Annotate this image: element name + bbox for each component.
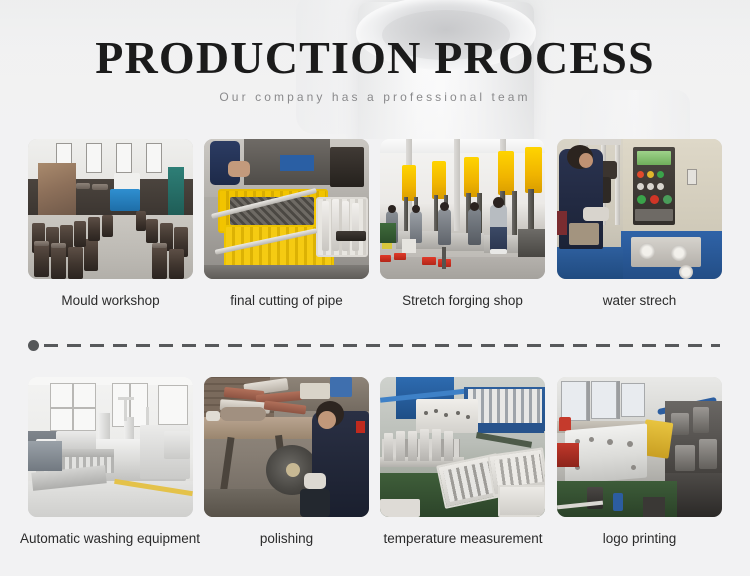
process-step-caption: logo printing (557, 530, 722, 547)
process-step-caption: temperature measurement (368, 530, 558, 547)
process-step-final-cutting-of-pipe[interactable]: final cutting of pipe (204, 139, 369, 309)
automatic-washing-equipment-photo (28, 377, 193, 517)
process-step-caption: Automatic washing equipment (10, 530, 210, 547)
process-step-image[interactable] (28, 377, 193, 517)
final-cutting-of-pipe-photo (204, 139, 369, 279)
process-step-image[interactable] (380, 377, 545, 517)
hero-header: PRODUCTION PROCESS Our company has a pro… (0, 0, 750, 139)
timeline-divider (28, 337, 722, 355)
process-step-caption: polishing (204, 530, 369, 547)
process-step-image[interactable] (380, 139, 545, 279)
process-step-automatic-washing-equipment[interactable]: Automatic washing equipment (28, 377, 193, 547)
timeline-dot-icon (28, 340, 39, 351)
process-step-caption: Stretch forging shop (380, 292, 545, 309)
process-step-image[interactable] (28, 139, 193, 279)
page-title: PRODUCTION PROCESS (0, 35, 750, 81)
process-step-mould-workshop[interactable]: Mould workshop (28, 139, 193, 309)
polishing-photo (204, 377, 369, 517)
process-step-image[interactable] (204, 377, 369, 517)
process-step-image[interactable] (557, 139, 722, 279)
process-step-image[interactable] (204, 139, 369, 279)
page-subtitle: Our company has a professional team (0, 90, 750, 104)
process-step-image[interactable] (557, 377, 722, 517)
stretch-forging-shop-photo (380, 139, 545, 279)
water-strech-photo (557, 139, 722, 279)
mould-workshop-photo (28, 139, 193, 279)
process-step-caption: water strech (557, 292, 722, 309)
logo-printing-photo (557, 377, 722, 517)
process-step-caption: final cutting of pipe (204, 292, 369, 309)
process-step-temperature-measurement[interactable]: temperature measurement (380, 377, 545, 547)
process-step-stretch-forging-shop[interactable]: Stretch forging shop (380, 139, 545, 309)
process-step-water-strech[interactable]: water strech (557, 139, 722, 309)
process-step-caption: Mould workshop (28, 292, 193, 309)
temperature-measurement-photo (380, 377, 545, 517)
process-step-logo-printing[interactable]: logo printing (557, 377, 722, 547)
timeline-dashed-line (44, 344, 720, 347)
process-step-polishing[interactable]: polishing (204, 377, 369, 547)
production-process-banner: PRODUCTION PROCESS Our company has a pro… (0, 0, 750, 576)
